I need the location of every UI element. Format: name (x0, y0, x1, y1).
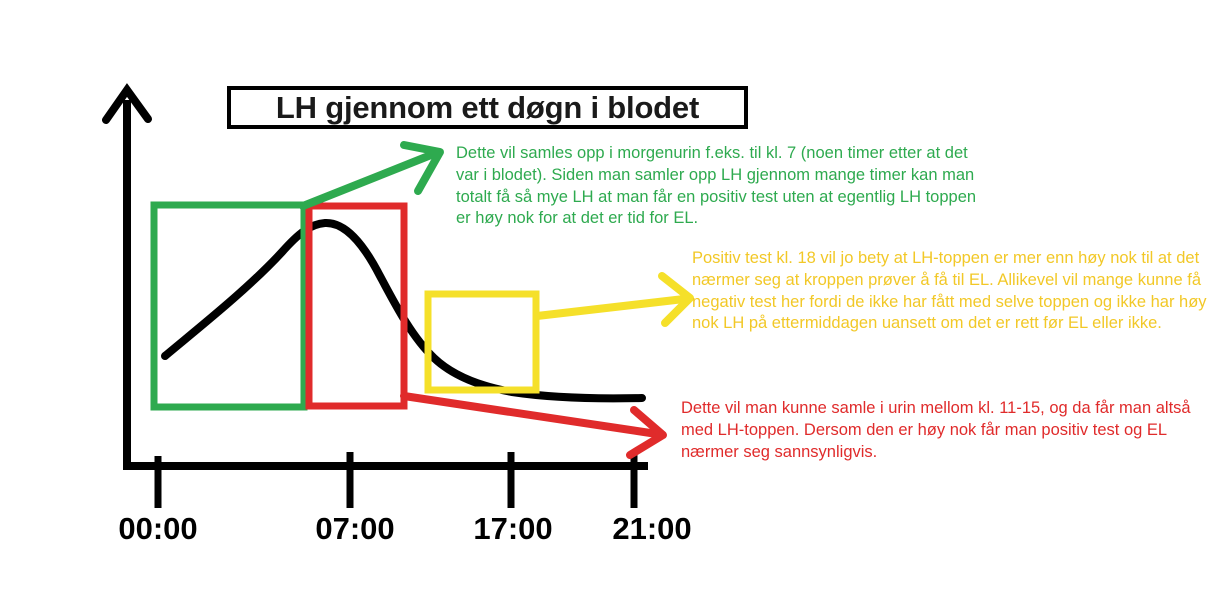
page-title: LH gjennom ett døgn i blodet (276, 92, 699, 123)
x-tick-label-0700: 07:00 (315, 513, 394, 544)
yellow-annotation-text: Positiv test kl. 18 vil jo bety at LH-to… (692, 248, 1212, 335)
red-annotation-text: Dette vil man kunne samle i urin mellom … (681, 398, 1214, 463)
x-tick-label-0000: 00:00 (118, 513, 197, 544)
red-arrow (404, 396, 663, 455)
green-annotation-text: Dette vil samles opp i morgenurin f.eks.… (456, 143, 986, 230)
green-arrow (303, 145, 440, 206)
diagram-canvas: LH gjennom ett døgn i blodet 00:00 07:00… (0, 0, 1214, 592)
yellow-region-box (428, 294, 536, 390)
x-tick-label-1700: 17:00 (473, 513, 552, 544)
chart-title-box: LH gjennom ett døgn i blodet (227, 86, 748, 129)
yellow-arrow (537, 276, 690, 323)
x-tick-label-2100: 21:00 (612, 513, 691, 544)
